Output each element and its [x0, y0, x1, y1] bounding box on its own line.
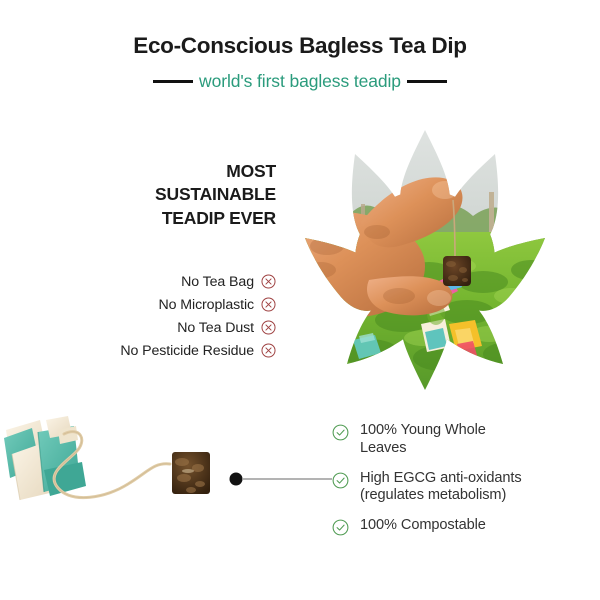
list-item: No Microplastic [20, 293, 276, 316]
x-circle-icon [261, 297, 276, 312]
list-item: No Tea Bag [20, 270, 276, 293]
list-item: 100% Compostable [332, 517, 594, 536]
dash-left-decoration [153, 80, 193, 83]
header: Eco-Conscious Bagless Tea Dip world's fi… [0, 34, 600, 92]
positive-item-label: High EGCG anti-oxidants (regulates metab… [360, 470, 522, 506]
check-circle-icon [332, 519, 349, 536]
hand-holding-teadip-lotus-photo [303, 128, 547, 392]
x-circle-icon [261, 320, 276, 335]
claim-line-1: MOST [96, 160, 276, 183]
claim-line-3: TEADIP EVER [96, 207, 276, 230]
positive-item-line-2: Leaves [360, 440, 406, 456]
list-item: 100% Young Whole Leaves [332, 422, 594, 458]
check-circle-icon [332, 472, 349, 489]
positive-item-label: 100% Young Whole Leaves [360, 422, 486, 458]
positive-item-line-1: 100% Compostable [360, 517, 486, 533]
positive-claims-list: 100% Young Whole Leaves High EGCG anti-o… [332, 422, 594, 548]
list-item: High EGCG anti-oxidants (regulates metab… [332, 470, 594, 506]
dash-right-decoration [407, 80, 447, 83]
list-item: No Pesticide Residue [20, 339, 276, 362]
teadip-packaging-photo [2, 404, 242, 532]
callout-connector [228, 470, 336, 488]
connector-dot [230, 473, 243, 486]
claim-line-2: SUSTAINABLE [96, 183, 276, 206]
list-item: No Tea Dust [20, 316, 276, 339]
subtitle-row: world's first bagless teadip [0, 71, 600, 92]
infographic-canvas: Eco-Conscious Bagless Tea Dip world's fi… [0, 0, 600, 600]
negative-item-label: No Tea Dust [177, 320, 254, 336]
negative-item-label: No Tea Bag [181, 274, 254, 290]
check-circle-icon [332, 424, 349, 441]
positive-item-label: 100% Compostable [360, 517, 486, 535]
x-circle-icon [261, 343, 276, 358]
positive-item-line-2: (regulates metabolism) [360, 487, 506, 503]
positive-item-line-1: 100% Young Whole [360, 422, 486, 438]
claim-heading: MOST SUSTAINABLE TEADIP EVER [96, 160, 276, 230]
negative-item-label: No Pesticide Residue [120, 343, 254, 359]
negative-claims-list: No Tea Bag No Microplastic No Tea Dust [20, 270, 276, 362]
x-circle-icon [261, 274, 276, 289]
subtitle: world's first bagless teadip [199, 71, 401, 92]
page-title: Eco-Conscious Bagless Tea Dip [0, 34, 600, 59]
positive-item-line-1: High EGCG anti-oxidants [360, 470, 522, 486]
negative-item-label: No Microplastic [159, 297, 254, 313]
